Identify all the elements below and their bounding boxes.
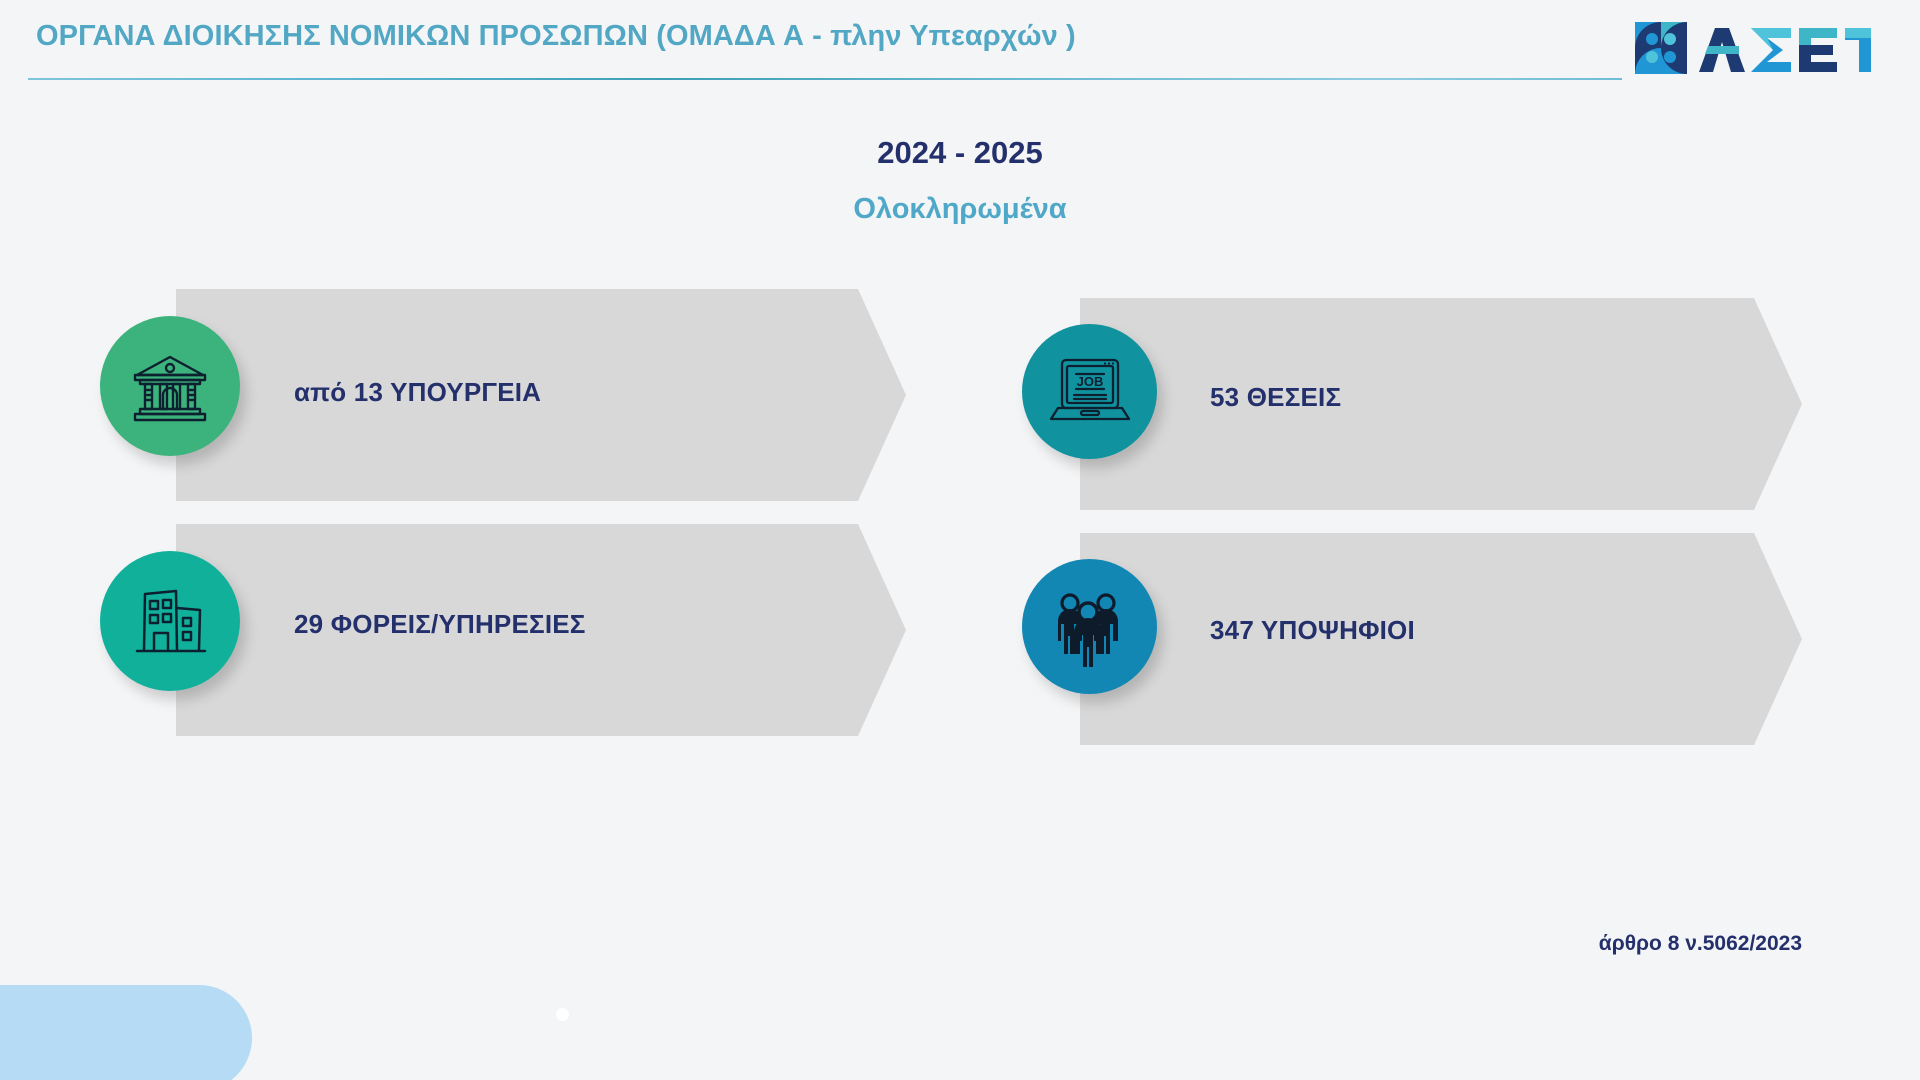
stat-card-agencies[interactable]: 29 ΦΟΡΕΙΣ/ΥΠΗΡΕΣΙΕΣ bbox=[176, 524, 906, 736]
logo-wordmark bbox=[1699, 28, 1871, 72]
card-label: από 13 ΥΠΟΥΡΓΕΙΑ bbox=[294, 377, 541, 408]
office-buildings-icon bbox=[100, 551, 240, 691]
header-divider bbox=[28, 78, 1622, 80]
page-title: ΟΡΓΑΝΑ ΔΙΟΙΚΗΣΗΣ ΝΟΜΙΚΩΝ ΠΡΟΣΩΠΩΝ (ΟΜΑΔΑ… bbox=[36, 20, 1076, 53]
status-heading: Ολοκληρωμένα bbox=[0, 193, 1920, 226]
card-banner bbox=[1080, 533, 1802, 745]
slide-header: ΟΡΓΑΝΑ ΔΙΟΙΚΗΣΗΣ ΝΟΜΙΚΩΝ ΠΡΟΣΩΠΩΝ (ΟΜΑΔΑ… bbox=[0, 0, 1920, 95]
laptop-job-icon: JOB bbox=[1022, 324, 1157, 459]
stat-card-ministries[interactable]: από 13 ΥΠΟΥΡΓΕΙΑ bbox=[176, 289, 906, 501]
stat-card-candidates[interactable]: 347 ΥΠΟΨΗΦΙΟΙ bbox=[1080, 533, 1802, 745]
slide-canvas: ΟΡΓΑΝΑ ΔΙΟΙΚΗΣΗΣ ΝΟΜΙΚΩΝ ΠΡΟΣΩΠΩΝ (ΟΜΑΔΑ… bbox=[0, 0, 1920, 1080]
svg-text:JOB: JOB bbox=[1076, 374, 1103, 389]
decorative-blob bbox=[0, 985, 252, 1080]
people-group-icon bbox=[1022, 559, 1157, 694]
card-banner bbox=[1080, 298, 1802, 510]
card-label: 347 ΥΠΟΨΗΦΙΟΙ bbox=[1210, 615, 1415, 646]
stat-card-positions[interactable]: JOB 53 ΘΕΣΕΙΣ bbox=[1080, 298, 1802, 510]
card-label: 53 ΘΕΣΕΙΣ bbox=[1210, 382, 1341, 413]
card-label: 29 ΦΟΡΕΙΣ/ΥΠΗΡΕΣΙΕΣ bbox=[294, 609, 586, 640]
footnote-legal-reference: άρθρο 8 ν.5062/2023 bbox=[1599, 932, 1802, 956]
logo-mark-icon bbox=[1635, 22, 1687, 74]
bank-building-icon bbox=[100, 316, 240, 456]
year-range-heading: 2024 - 2025 bbox=[0, 135, 1920, 171]
decorative-dot bbox=[556, 1008, 569, 1021]
asep-logo[interactable] bbox=[1633, 18, 1873, 78]
